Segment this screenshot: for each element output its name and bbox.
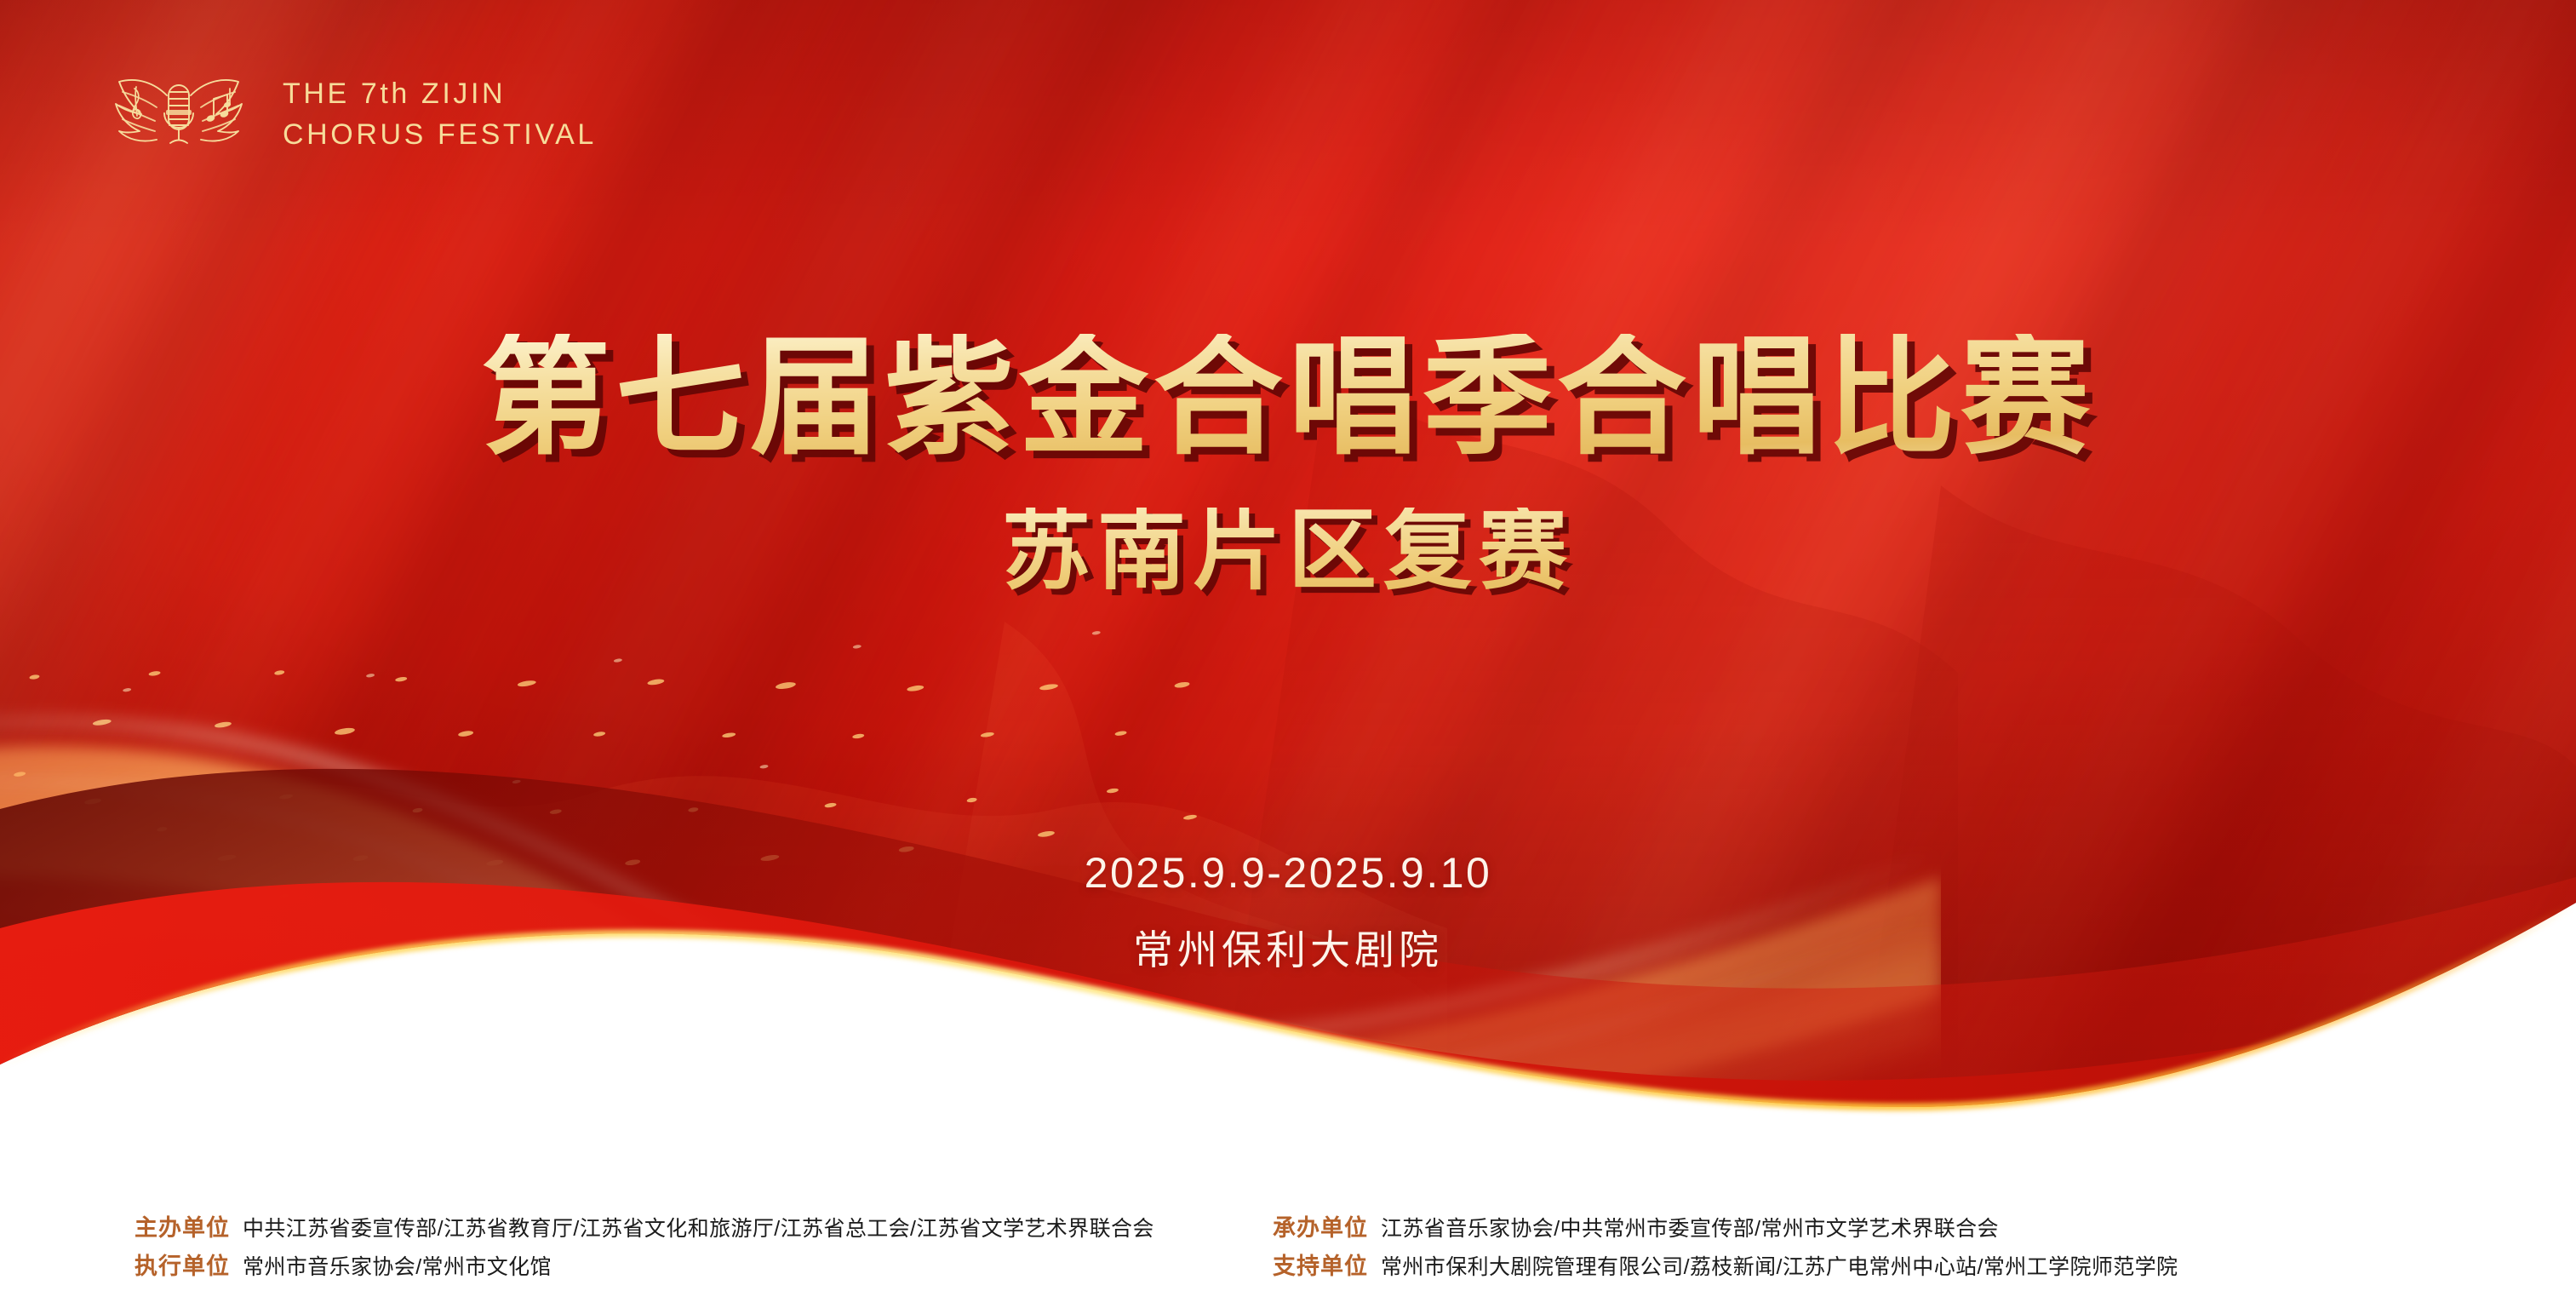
winged-microphone-icon <box>94 66 264 162</box>
credit-value: 江苏省音乐家协会/中共常州市委宣传部/常州市文学艺术界联合会 <box>1381 1212 1999 1242</box>
credit-value: 常州市音乐家协会/常州市文化馆 <box>243 1250 552 1281</box>
event-date: 2025.9.9-2025.9.10 <box>0 852 2576 894</box>
credit-row: 主办单位 中共江苏省委宣传部/江苏省教育厅/江苏省文化和旅游厅/江苏省总工会/江… <box>135 1209 1154 1240</box>
page-subtitle: 苏南片区复赛 <box>0 508 2576 596</box>
credit-row: 执行单位 常州市音乐家协会/常州市文化馆 <box>135 1248 1154 1278</box>
credit-value: 中共江苏省委宣传部/江苏省教育厅/江苏省文化和旅游厅/江苏省总工会/江苏省文学艺… <box>243 1212 1154 1242</box>
credit-row: 支持单位 常州市保利大剧院管理有限公司/荔枝新闻/江苏广电常州中心站/常州工学院… <box>1273 1248 2178 1278</box>
credits-block: 主办单位 中共江苏省委宣传部/江苏省教育厅/江苏省文化和旅游厅/江苏省总工会/江… <box>0 1209 2576 1291</box>
festival-logo-text: THE 7th ZIJIN CHORUS FESTIVAL <box>283 73 597 156</box>
credit-label: 支持单位 <box>1273 1248 1368 1281</box>
credit-label: 承办单位 <box>1273 1209 1368 1242</box>
title-block: 第七届紫金合唱季合唱比赛 苏南片区复赛 <box>0 334 2576 596</box>
credit-label: 执行单位 <box>135 1248 230 1281</box>
credit-row: 承办单位 江苏省音乐家协会/中共常州市委宣传部/常州市文学艺术界联合会 <box>1273 1209 2178 1240</box>
credits-column-left: 主办单位 中共江苏省委宣传部/江苏省教育厅/江苏省文化和旅游厅/江苏省总工会/江… <box>135 1209 1154 1278</box>
festival-logo: THE 7th ZIJIN CHORUS FESTIVAL <box>94 66 597 162</box>
page-title: 第七届紫金合唱季合唱比赛 <box>0 334 2576 463</box>
credits-column-right: 承办单位 江苏省音乐家协会/中共常州市委宣传部/常州市文学艺术界联合会 支持单位… <box>1273 1209 2178 1278</box>
event-meta: 2025.9.9-2025.9.10 常州保利大剧院 <box>0 852 2576 970</box>
poster-canvas: THE 7th ZIJIN CHORUS FESTIVAL 第七届紫金合唱季合唱… <box>0 0 2576 1291</box>
logo-line-2: CHORUS FESTIVAL <box>283 114 597 155</box>
logo-line-1: THE 7th ZIJIN <box>283 73 597 114</box>
event-venue: 常州保利大剧院 <box>0 930 2576 970</box>
credit-label: 主办单位 <box>135 1209 230 1242</box>
credit-value: 常州市保利大剧院管理有限公司/荔枝新闻/江苏广电常州中心站/常州工学院师范学院 <box>1381 1250 2178 1281</box>
